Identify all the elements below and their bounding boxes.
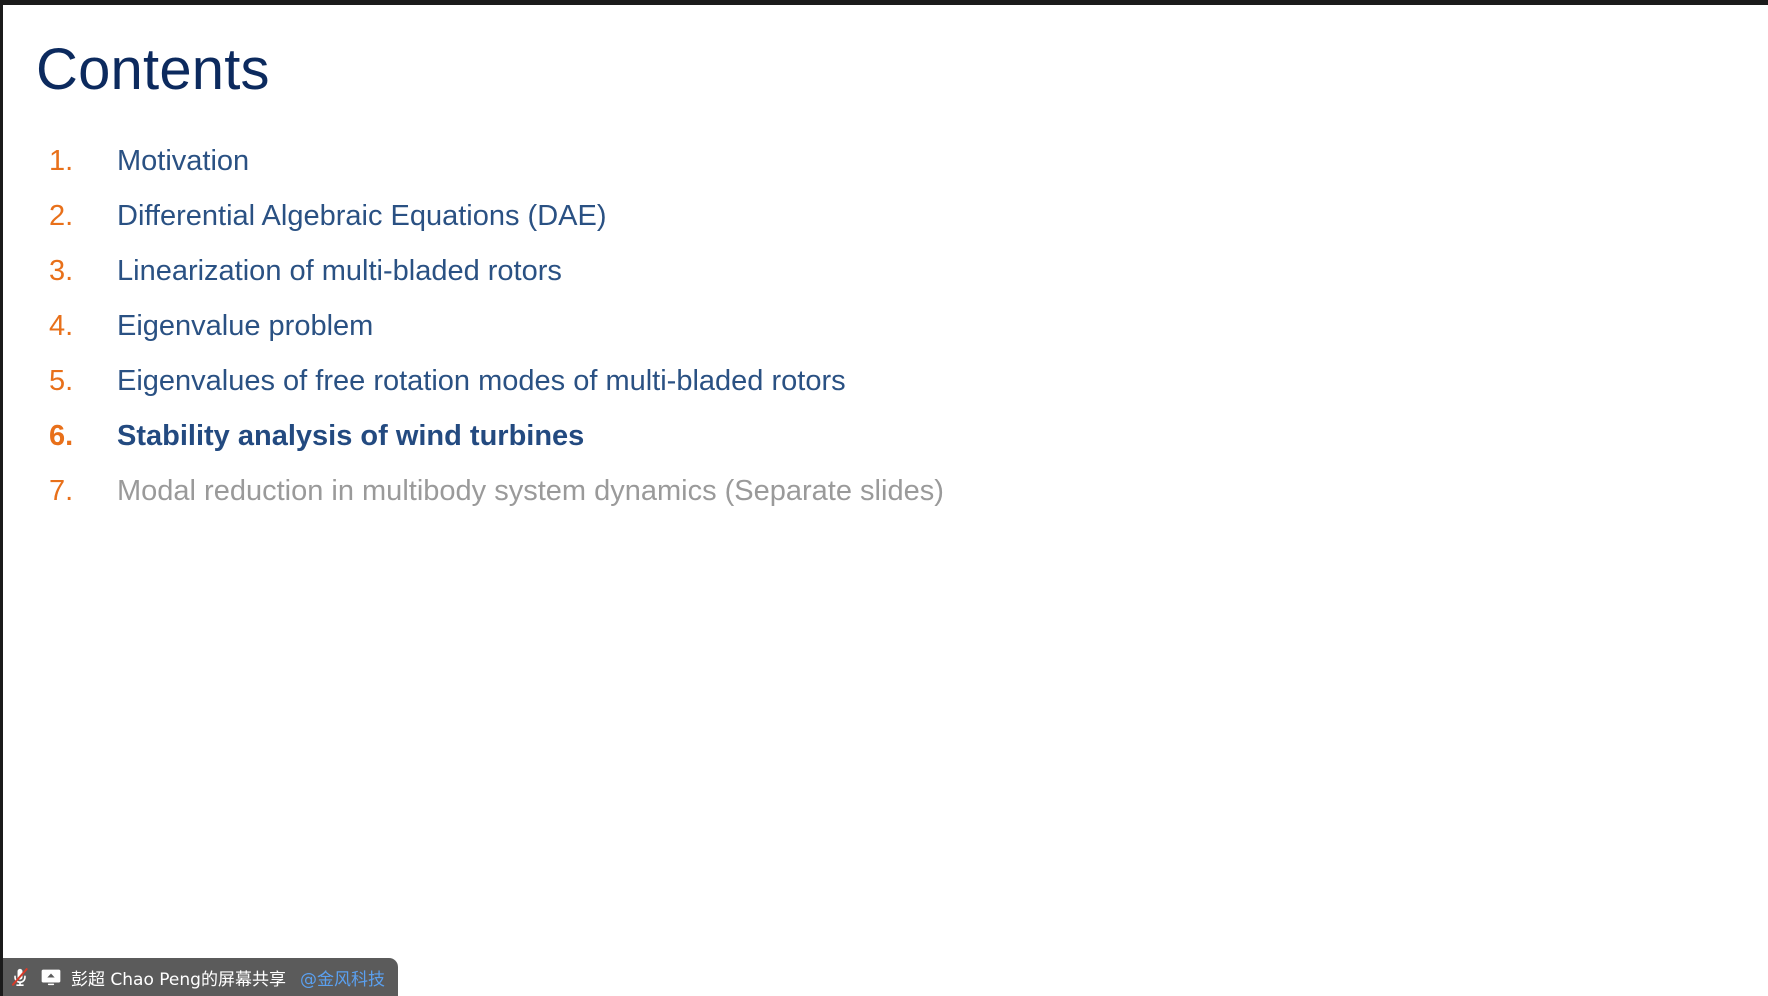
page-title: Contents [36, 38, 270, 102]
list-item-number: 5. [49, 367, 117, 396]
share-organization-label: @金风科技 [300, 965, 385, 990]
list-item[interactable]: 4. Eigenvalue problem [3, 312, 1768, 367]
contents-list: 1. Motivation 2. Differential Algebraic … [3, 147, 1768, 532]
list-item[interactable]: 2. Differential Algebraic Equations (DAE… [3, 202, 1768, 257]
screen-share-status-bar[interactable]: 彭超 Chao Peng的屏幕共享 @金风科技 [3, 958, 398, 996]
list-item-label: Eigenvalues of free rotation modes of mu… [117, 367, 846, 396]
presentation-screen: Contents 1. Motivation 2. Differential A… [0, 0, 1768, 996]
screen-share-icon[interactable] [40, 966, 62, 988]
list-item-number: 1. [49, 147, 117, 176]
list-item[interactable]: 3. Linearization of multi-bladed rotors [3, 257, 1768, 312]
microphone-muted-icon[interactable] [9, 966, 31, 988]
share-presenter-label: 彭超 Chao Peng的屏幕共享 [71, 965, 286, 990]
list-item-label: Differential Algebraic Equations (DAE) [117, 202, 607, 231]
list-item[interactable]: 1. Motivation [3, 147, 1768, 202]
list-item-label: Linearization of multi-bladed rotors [117, 257, 562, 286]
list-item-number: 2. [49, 202, 117, 231]
list-item-number: 7. [49, 477, 117, 506]
list-item-number: 4. [49, 312, 117, 341]
list-item-label: Eigenvalue problem [117, 312, 373, 341]
list-item-number: 6. [49, 422, 117, 451]
list-item-dimmed[interactable]: 7. Modal reduction in multibody system d… [3, 477, 1768, 532]
list-item[interactable]: 5. Eigenvalues of free rotation modes of… [3, 367, 1768, 422]
list-item-current[interactable]: 6. Stability analysis of wind turbines [3, 422, 1768, 477]
list-item-label: Motivation [117, 147, 249, 176]
list-item-label: Modal reduction in multibody system dyna… [117, 477, 944, 506]
list-item-number: 3. [49, 257, 117, 286]
slide-canvas: Contents 1. Motivation 2. Differential A… [3, 5, 1768, 996]
list-item-label: Stability analysis of wind turbines [117, 422, 584, 451]
